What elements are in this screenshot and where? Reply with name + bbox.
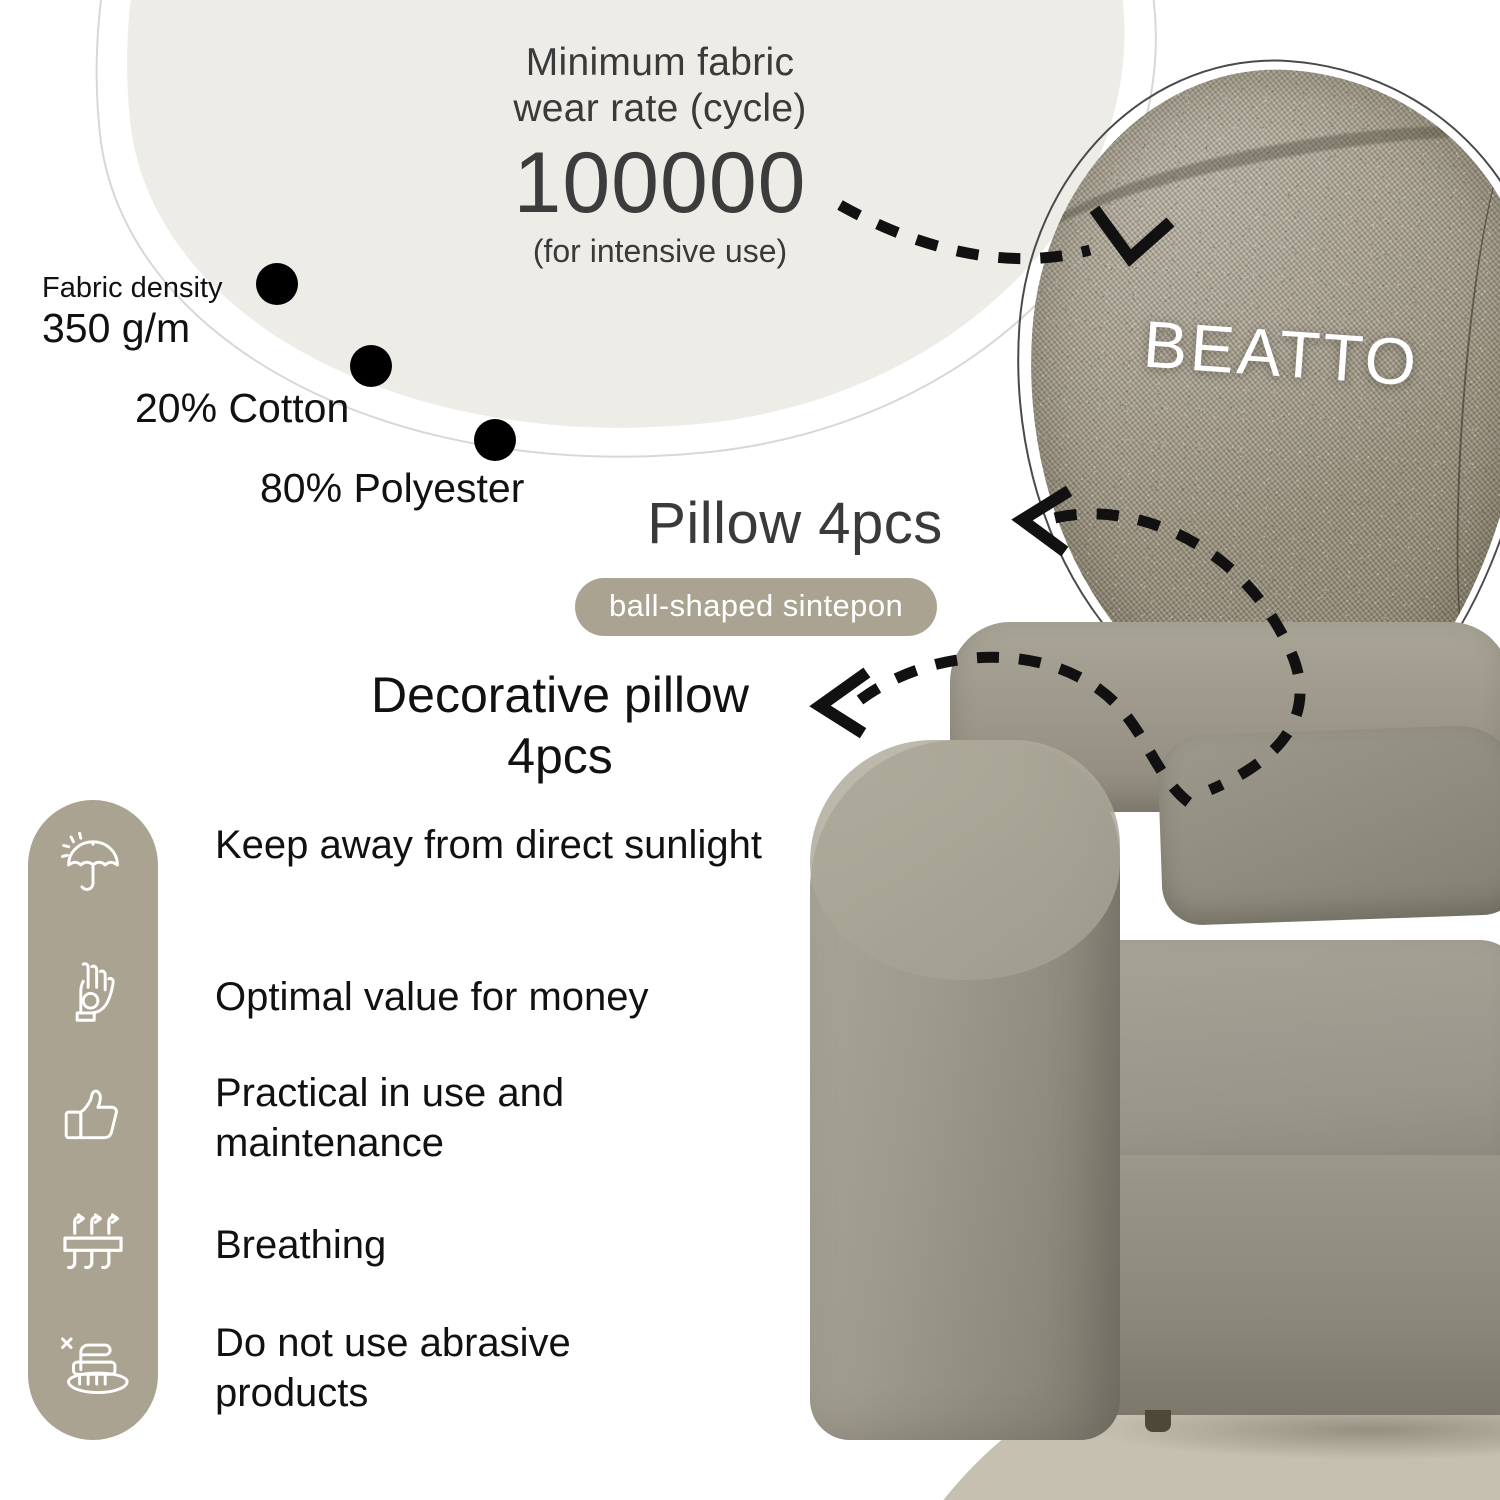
- breathability-icon: [54, 1204, 132, 1282]
- pillow-filler-badge: ball-shaped sintepon: [575, 578, 937, 636]
- ok-hand-icon: [54, 952, 132, 1030]
- spec-cotton-value: 20% Cotton: [135, 385, 349, 432]
- infographic-canvas: BEATTO Minimum fabric wear rate (cycle) …: [0, 0, 1500, 1500]
- sofa-armrest-highlight: [810, 740, 1120, 980]
- wear-rate-title-line1: Minimum fabric: [526, 41, 795, 84]
- wear-rate-value: 100000: [420, 140, 900, 226]
- wear-rate-title-line2: wear rate (cycle): [513, 87, 806, 130]
- benefit-item-0: Keep away from direct sunlight: [215, 820, 775, 870]
- sofa-base: [1060, 1155, 1500, 1415]
- spec-polyester-value: 80% Polyester: [260, 465, 524, 512]
- decorative-pillow-line2: 4pcs: [507, 728, 613, 784]
- benefits-icon-list: [28, 800, 158, 1440]
- pillow-heading: Pillow 4pcs: [560, 490, 1030, 557]
- no-abrasive-brush-icon: [54, 1328, 132, 1406]
- benefit-item-1: Optimal value for money: [215, 972, 775, 1022]
- decorative-pillow-heading: Decorative pillow 4pcs: [280, 665, 840, 787]
- benefit-item-2: Practical in use and maintenance: [215, 1068, 685, 1168]
- wear-rate-note: (for intensive use): [420, 232, 900, 270]
- umbrella-sun-icon: [54, 826, 132, 904]
- spec-dot-1: [256, 263, 298, 305]
- spec-fabric-density-label: Fabric density: [42, 272, 223, 304]
- spec-dot-2: [350, 345, 392, 387]
- sofa-product-image: [790, 610, 1500, 1440]
- spec-cotton: 20% Cotton: [135, 385, 349, 432]
- benefit-item-4: Do not use abrasive products: [215, 1318, 685, 1418]
- decorative-pillow-line1: Decorative pillow: [371, 667, 749, 723]
- benefit-item-3: Breathing: [215, 1220, 775, 1270]
- spec-fabric-density: Fabric density 350 g/m: [42, 264, 223, 353]
- spec-fabric-density-value: 350 g/m: [42, 305, 223, 352]
- spec-dot-3: [474, 419, 516, 461]
- sofa-decorative-pillow: [1157, 724, 1500, 926]
- sofa-leg: [1145, 1410, 1171, 1432]
- spec-polyester: 80% Polyester: [260, 465, 524, 512]
- wear-rate-block: Minimum fabric wear rate (cycle) 100000 …: [420, 40, 900, 270]
- thumbs-up-icon: [54, 1078, 132, 1156]
